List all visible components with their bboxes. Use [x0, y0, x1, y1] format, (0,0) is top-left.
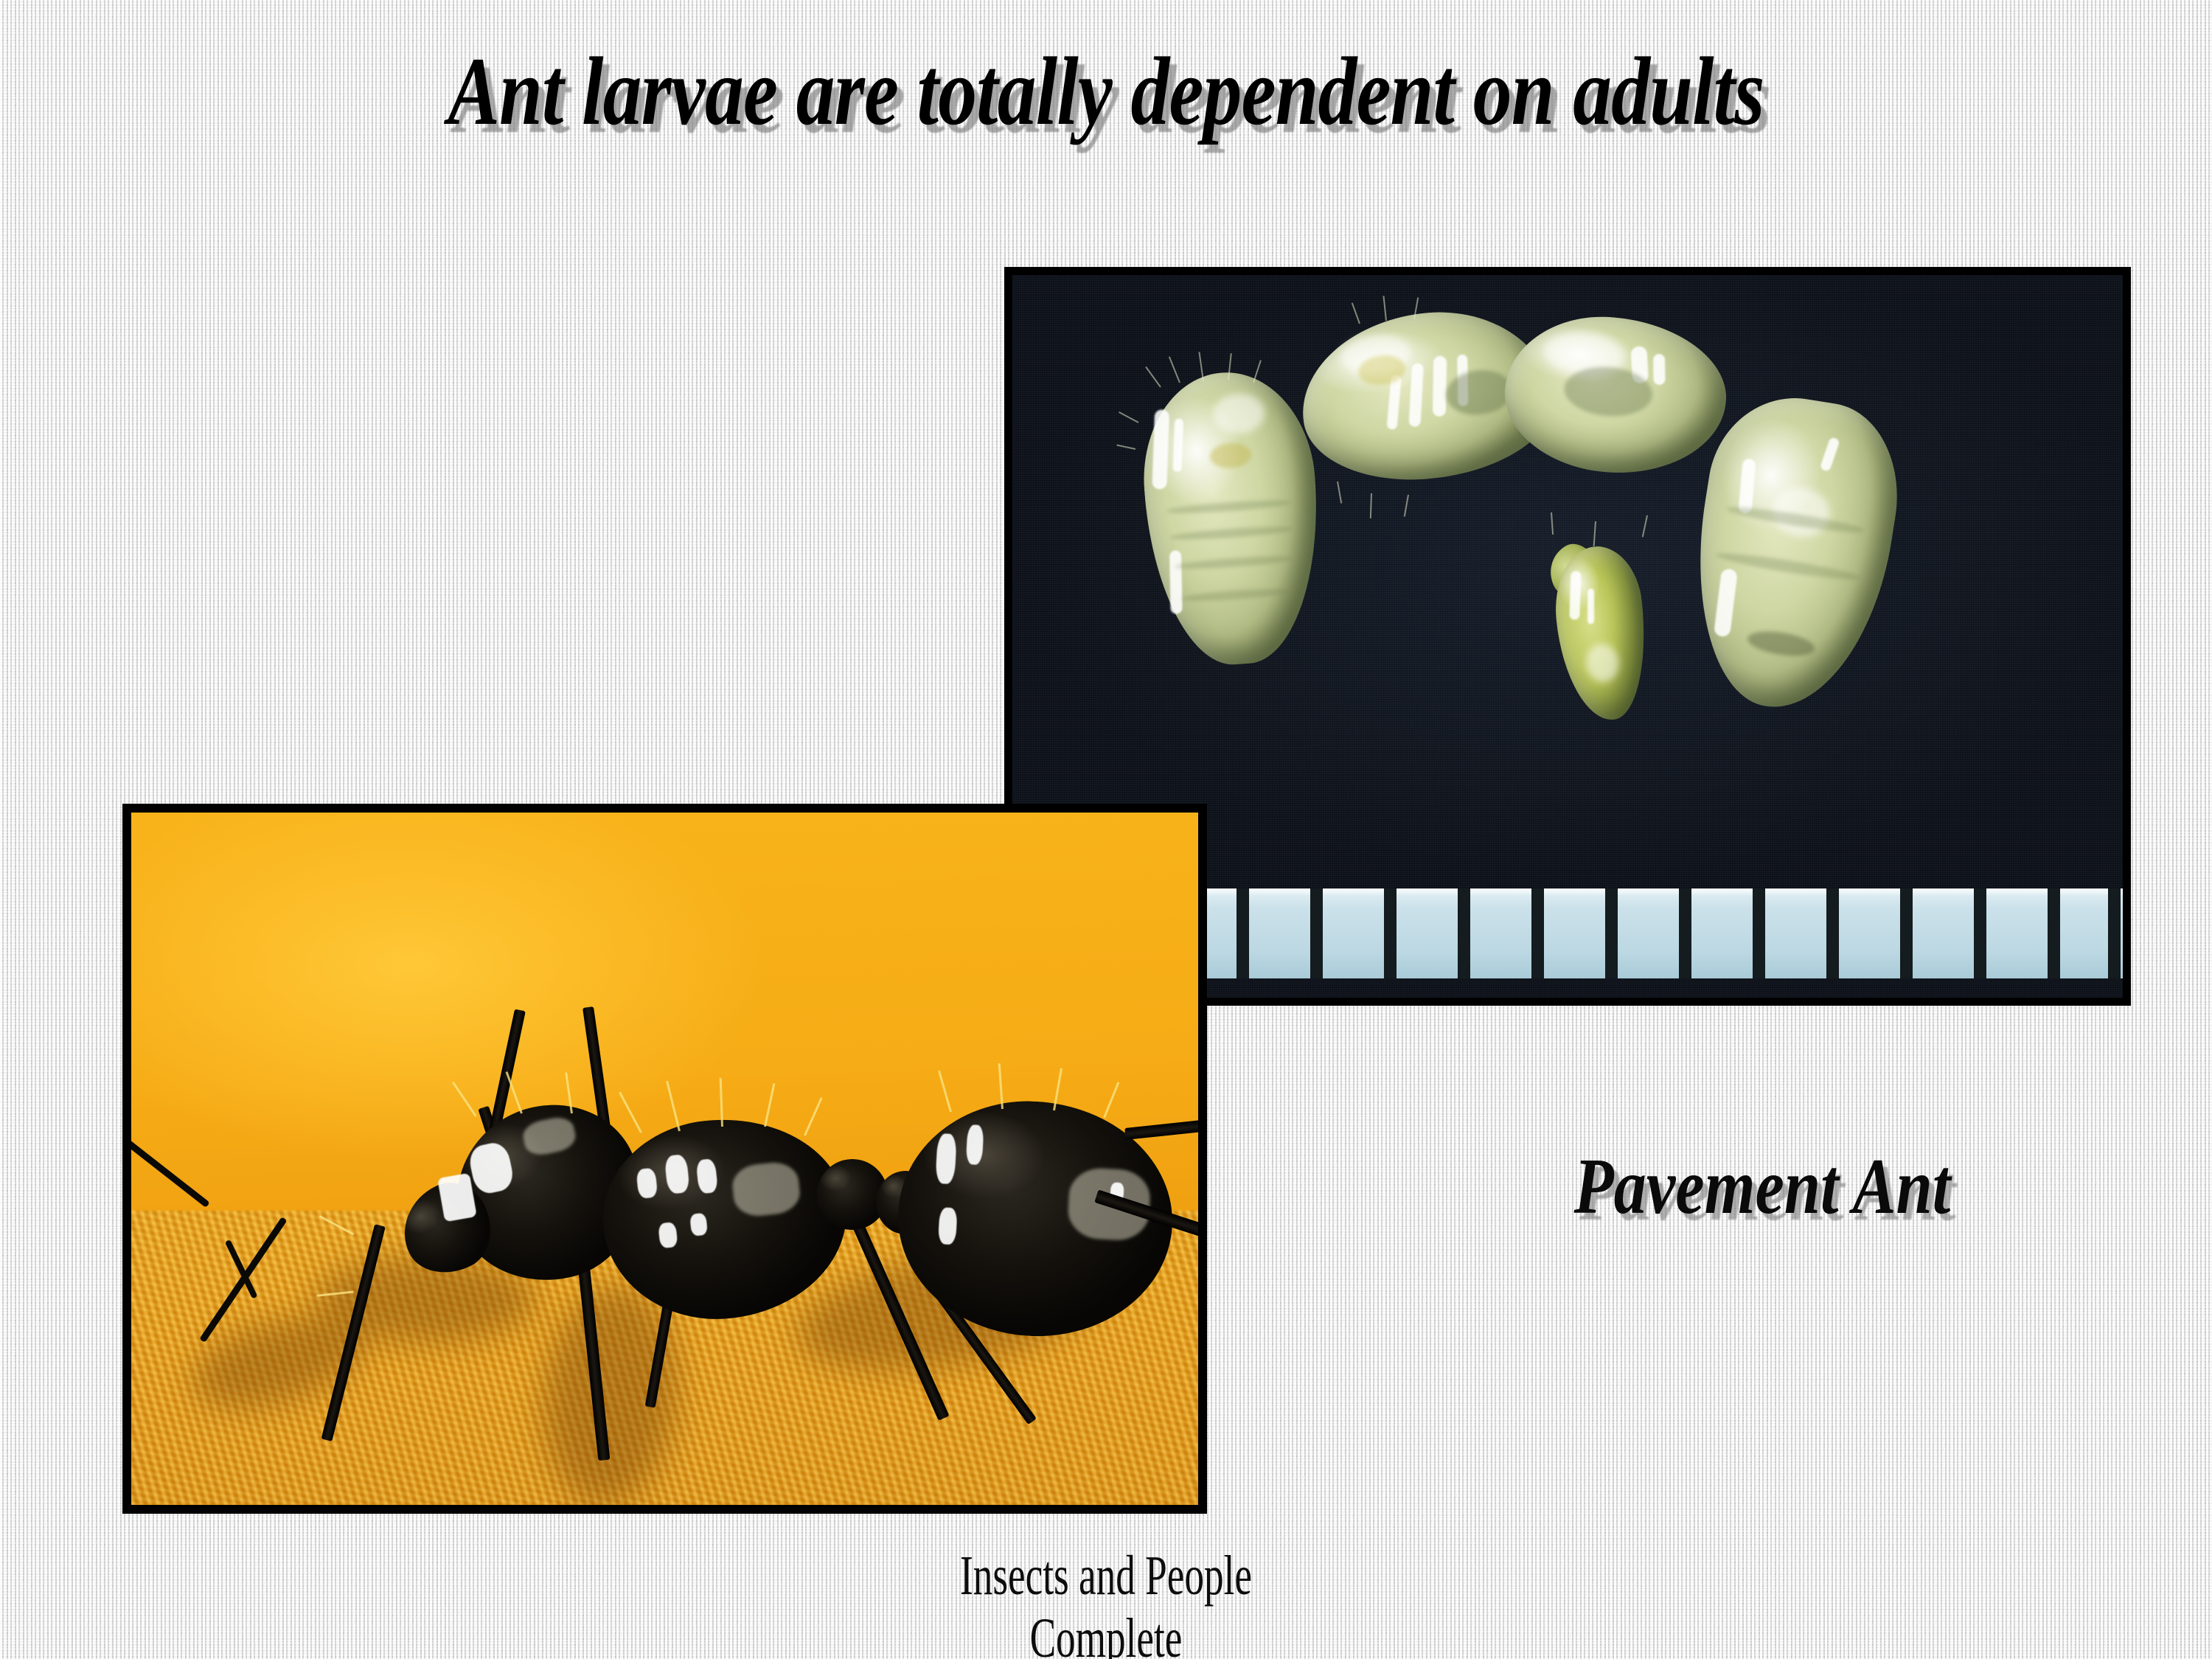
- ruler-tick: [1458, 888, 1470, 978]
- ant-hair: [998, 1063, 1004, 1109]
- footer-line-1: Insects and People: [332, 1545, 1880, 1607]
- ruler-tick: [1531, 888, 1544, 978]
- larva-hair: [1404, 495, 1409, 517]
- ant-antenna: [131, 1135, 210, 1208]
- ant-hair: [804, 1097, 823, 1135]
- ruler-tick: [1974, 888, 1986, 978]
- larva-hair: [1337, 481, 1342, 504]
- ant-hair: [1103, 1082, 1119, 1118]
- ruler-tick: [1237, 888, 1249, 978]
- ruler-tick: [1679, 888, 1691, 978]
- ant-hair: [938, 1071, 952, 1113]
- ant-hair: [764, 1083, 775, 1127]
- pavement-ant-photo[interactable]: [122, 804, 1207, 1514]
- footer-line-2: Complete: [332, 1607, 1880, 1659]
- larva-hair: [1198, 352, 1204, 381]
- ruler-tick: [1605, 888, 1618, 978]
- pavement-ant-caption: Pavement Ant: [1466, 1141, 2059, 1233]
- larva-hair: [1370, 493, 1372, 518]
- ant-leg: [1124, 1116, 1198, 1140]
- ruler-tick: [1900, 888, 1913, 978]
- page-title: Ant larvae are totally dependent on adul…: [221, 41, 1991, 143]
- ruler-tick: [1826, 888, 1839, 978]
- larva-hair: [1145, 366, 1161, 388]
- ant-hair: [666, 1081, 681, 1132]
- larva-hair: [1116, 445, 1135, 450]
- pavement-ant-image-content: [131, 813, 1198, 1505]
- larva-body: [1498, 308, 1732, 481]
- larva-body: [1549, 542, 1654, 724]
- slide-footer: Insects and People Complete: [332, 1545, 1880, 1659]
- ruler-tick: [1384, 888, 1397, 978]
- larva-hair: [1382, 296, 1387, 321]
- larva-hair: [1593, 521, 1596, 546]
- larva-hair: [1352, 302, 1360, 324]
- larva-hair: [1169, 356, 1180, 383]
- larva-hair: [1119, 411, 1138, 423]
- ruler-tick: [1753, 888, 1765, 978]
- larva-body: [1136, 366, 1327, 669]
- ant-hair: [619, 1092, 642, 1133]
- ant-hair: [452, 1082, 477, 1117]
- slide-canvas: Ant larvae are totally dependent on adul…: [0, 0, 2212, 1659]
- larva-hair: [1551, 512, 1554, 535]
- ruler-tick: [2048, 888, 2060, 978]
- larva-hair: [1642, 515, 1648, 538]
- ruler-tick: [1310, 888, 1323, 978]
- ruler-tick: [2108, 888, 2121, 978]
